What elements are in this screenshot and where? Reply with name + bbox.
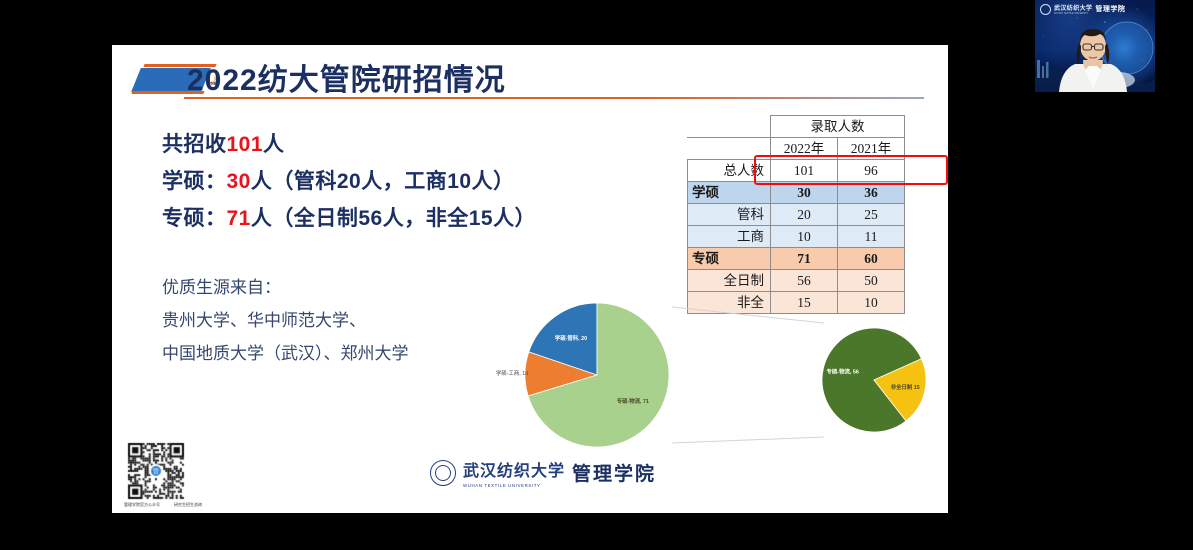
pie-slice-label-2: 专硕-物流, 71 (617, 397, 649, 405)
table-cell-1-0: 30 (771, 182, 838, 204)
footer-university-logo: 武汉纺织大学 WUHAN TEXTILE UNIVERSITY 管理学院 (430, 457, 656, 488)
pie-slice-label-0: 学硕-工商, 10 (496, 369, 528, 377)
table-cell-4-0: 71 (771, 248, 838, 270)
pie-slice-label-1: 非全日制 15 (891, 383, 920, 391)
source-line-1: 贵州大学、华中师范大学、 (162, 306, 366, 331)
headline-professional-value: 71 (227, 207, 251, 230)
university-seal-icon (430, 460, 456, 486)
table-year-header-0: 2022年 (771, 138, 838, 160)
table-cell-3-0: 10 (771, 226, 838, 248)
table-row-label: 专硕 (688, 248, 771, 270)
pie-slice-label-0: 专硕-物流, 56 (827, 368, 859, 376)
table-cell-2-1: 25 (838, 204, 905, 226)
headline-professional-suffix: 人（全日制56人，非全15人） (251, 207, 536, 230)
headline-professional-prefix: 专硕： (162, 207, 227, 230)
headline-total-value: 101 (227, 133, 264, 156)
source-heading: 优质生源来自： (162, 273, 281, 298)
table-header-row-caption: 录取人数 (688, 116, 905, 138)
footer-university-name-en: WUHAN TEXTILE UNIVERSITY (463, 483, 565, 488)
pie-slice-label-1: 学硕-管科, 20 (555, 334, 587, 342)
video-university-name-cn: 武汉纺织大学 (1054, 3, 1092, 12)
headline-total-suffix: 人 (263, 133, 285, 156)
detail-pie-chart: 专硕-物流, 56非全日制 15 (822, 328, 926, 432)
screen: 2022纺大管院研招情况 共招收101人 学硕：30人（管科20人，工商10人）… (0, 0, 1193, 550)
table-row: 专硕7160 (688, 248, 905, 270)
table-row-label: 工商 (688, 226, 771, 248)
video-logo: 武汉纺织大学 WUHAN TEXTILE UNIVERSITY 管理学院 (1040, 3, 1125, 15)
footer-department-name: 管理学院 (572, 459, 656, 486)
source-line-2: 中国地质大学（武汉）、郑州大学 (162, 339, 409, 364)
headline-total: 共招收101人 (162, 128, 285, 158)
table-row: 学硕3036 (688, 182, 905, 204)
table-row-label: 管科 (688, 204, 771, 226)
qr-code-image (124, 442, 188, 500)
headline-academic-value: 30 (227, 170, 251, 193)
headline-academic-suffix: 人（管科20人，工商10人） (251, 170, 515, 193)
qr-caption-right: 研究生招生咨询 (174, 502, 202, 508)
table-year-corner-cell (688, 138, 771, 160)
table-cell-0-0: 101 (771, 160, 838, 182)
table-row: 工商1011 (688, 226, 905, 248)
qr-caption-left: 管理学院官方公众号 (124, 502, 160, 508)
chart-connector-lines (672, 307, 824, 443)
headline-academic-master: 学硕：30人（管科20人，工商10人） (162, 165, 515, 195)
table-caption-cell: 录取人数 (771, 116, 905, 138)
headline-total-prefix: 共招收 (162, 133, 227, 156)
video-department-name: 管理学院 (1095, 4, 1125, 14)
table-cell-2-0: 20 (771, 204, 838, 226)
table-corner-cell (688, 116, 771, 138)
table-cell-3-1: 11 (838, 226, 905, 248)
video-university-seal-icon (1040, 4, 1051, 15)
table-row-label: 学硕 (688, 182, 771, 204)
pie-charts: 学硕-工商, 10学硕-管科, 20专硕-物流, 71 专硕-物流, 56非全日… (442, 285, 942, 480)
presenter-figure (1059, 26, 1127, 92)
title-underline (184, 97, 924, 99)
video-university-name-en: WUHAN TEXTILE UNIVERSITY (1054, 12, 1092, 15)
table-row: 管科2025 (688, 204, 905, 226)
headline-professional-master: 专硕：71人（全日制56人，非全15人） (162, 202, 536, 232)
table-cell-0-1: 96 (838, 160, 905, 182)
main-pie-chart: 学硕-工商, 10学硕-管科, 20专硕-物流, 71 (496, 303, 669, 447)
table-row: 总人数10196 (688, 160, 905, 182)
table-cell-1-1: 36 (838, 182, 905, 204)
headline-academic-prefix: 学硕： (162, 170, 227, 193)
table-year-header-1: 2021年 (838, 138, 905, 160)
page-title: 2022纺大管院研招情况 (187, 55, 506, 99)
presentation-slide: 2022纺大管院研招情况 共招收101人 学硕：30人（管科20人，工商10人）… (112, 45, 948, 513)
table-header-row-years: 2022年2021年 (688, 138, 905, 160)
table-cell-4-1: 60 (838, 248, 905, 270)
qr-code-block: 管理学院官方公众号 研究生招生咨询 (124, 442, 202, 508)
qr-caption: 管理学院官方公众号 研究生招生咨询 (124, 502, 202, 508)
presenter-video-tile[interactable]: 武汉纺织大学 WUHAN TEXTILE UNIVERSITY 管理学院 (1035, 0, 1155, 92)
table-row-label: 总人数 (688, 160, 771, 182)
footer-university-name-cn: 武汉纺织大学 (463, 457, 565, 481)
